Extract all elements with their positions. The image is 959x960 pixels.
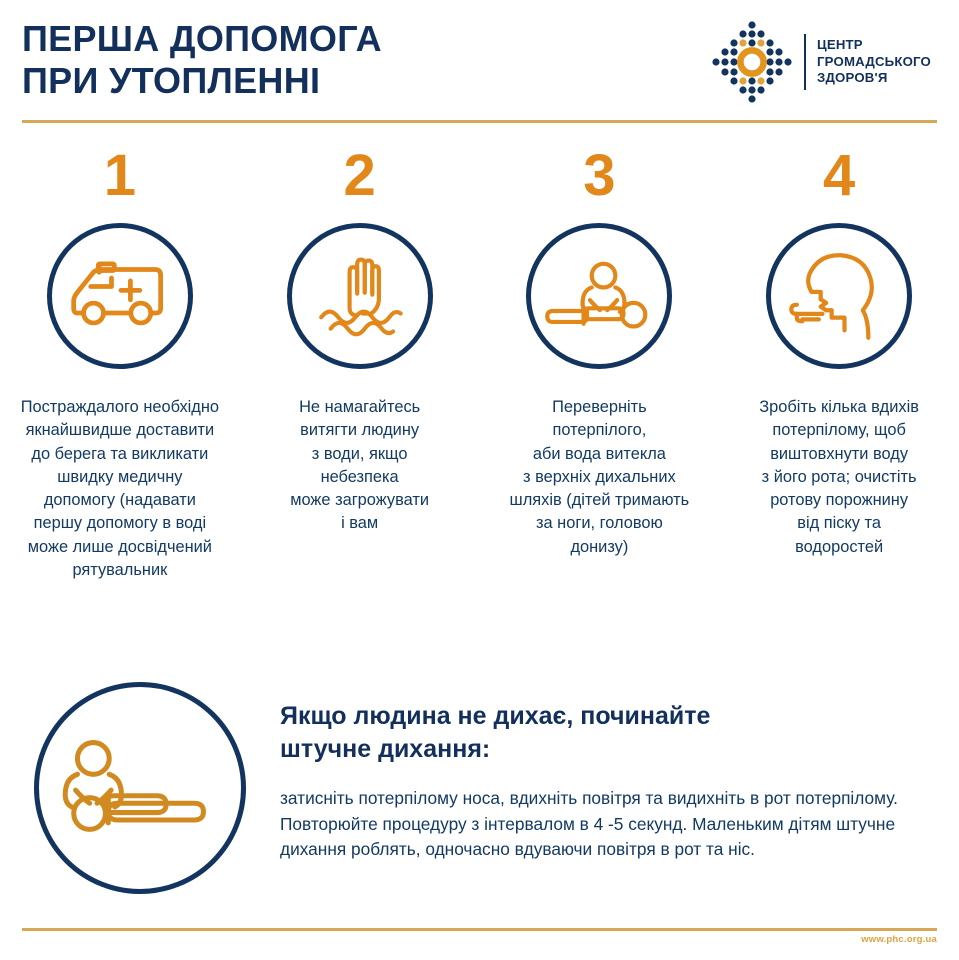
step-2-icon-circle <box>287 223 433 369</box>
step-4-number: 4 <box>823 140 855 212</box>
drowning-hand-in-water-icon <box>308 249 412 344</box>
infographic-page: ПЕРША ДОПОМОГА ПРИ УТОПЛЕННІ <box>0 0 959 960</box>
step-3-text: Переверніть потерпілого, аби вода витекл… <box>483 396 715 559</box>
step-1: 1 <box>0 140 240 582</box>
step-1-icon-circle <box>47 223 193 369</box>
logo-divider <box>804 34 806 90</box>
step-1-number: 1 <box>104 140 136 212</box>
step-4: 4 Зробіть кілька вдихів <box>719 140 959 582</box>
head-profile-breathing-icon <box>784 246 894 347</box>
bottom-section: Якщо людина не дихає, починайте штучне д… <box>0 676 959 894</box>
footer-divider <box>22 928 937 931</box>
phc-radial-dots-logo-icon <box>706 16 798 108</box>
header-divider <box>22 120 937 123</box>
page-title: ПЕРША ДОПОМОГА ПРИ УТОПЛЕННІ <box>22 18 382 102</box>
logo-text: ЦЕНТР ГРОМАДСЬКОГО ЗДОРОВ'Я <box>817 37 931 87</box>
bottom-heading: Якщо людина не дихає, починайте штучне д… <box>280 700 925 766</box>
organization-logo: ЦЕНТР ГРОМАДСЬКОГО ЗДОРОВ'Я <box>706 16 946 108</box>
ambulance-icon <box>68 259 172 333</box>
bottom-icon-circle <box>34 682 246 894</box>
header: ПЕРША ДОПОМОГА ПРИ УТОПЛЕННІ <box>0 0 959 110</box>
step-1-text: Постраждалого необхідно якнайшвидше дост… <box>2 396 238 582</box>
step-3-icon-circle <box>526 223 672 369</box>
step-2-number: 2 <box>343 140 375 212</box>
step-4-icon-circle <box>766 223 912 369</box>
step-4-text: Зробіть кілька вдихів потерпілому, щоб в… <box>730 396 948 559</box>
steps-row: 1 <box>0 140 959 582</box>
bottom-paragraph: затисніть потерпілому носа, вдихніть пов… <box>280 786 925 863</box>
bottom-icon-wrap <box>0 676 280 894</box>
cpr-rescue-breathing-icon <box>56 734 224 842</box>
step-3: 3 <box>480 140 720 582</box>
bottom-text-block: Якщо людина не дихає, починайте штучне д… <box>280 676 959 863</box>
step-2: 2 Не нама <box>240 140 480 582</box>
step-3-number: 3 <box>583 140 615 212</box>
step-2-text: Не намагайтесь витягти людину з води, як… <box>260 396 460 536</box>
footer-url[interactable]: www.phc.org.ua <box>861 934 937 945</box>
cpr-rescuer-icon <box>540 260 658 333</box>
